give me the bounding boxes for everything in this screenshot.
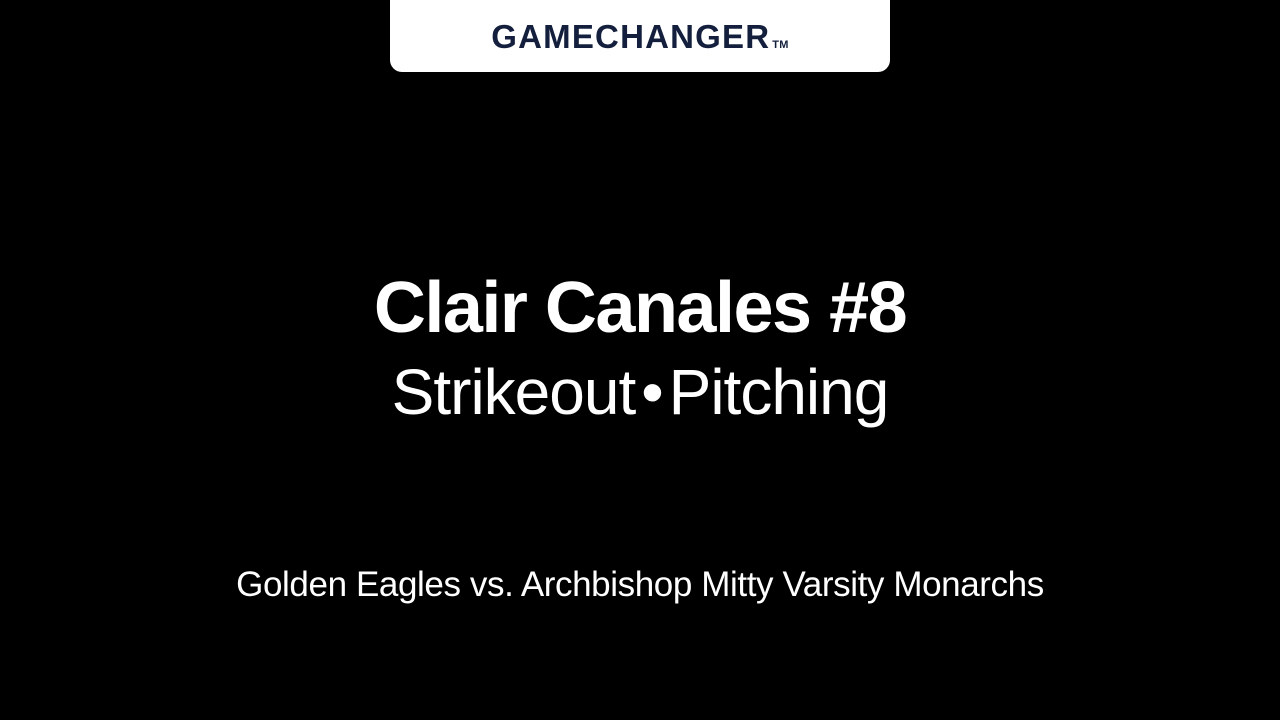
- gamechanger-wordmark-text: GAMECHANGER: [491, 20, 770, 53]
- gamechanger-logo: GAMECHANGER TM: [491, 20, 789, 53]
- gamechanger-brand-card: GAMECHANGER TM: [390, 0, 890, 72]
- play-description: Strikeout•Pitching: [0, 360, 1280, 424]
- matchup-caption: Golden Eagles vs. Archbishop Mitty Varsi…: [0, 566, 1280, 605]
- video-overlay-screen: { "theme": { "background_color": "#00000…: [0, 0, 1280, 720]
- player-name-and-number: Clair Canales #8: [0, 272, 1280, 344]
- bullet-separator-icon: •: [635, 360, 668, 424]
- play-category: Pitching: [669, 356, 889, 428]
- highlight-info-block: Clair Canales #8 Strikeout•Pitching: [0, 272, 1280, 424]
- trademark-icon: TM: [772, 40, 788, 51]
- play-event-type: Strikeout: [392, 356, 636, 428]
